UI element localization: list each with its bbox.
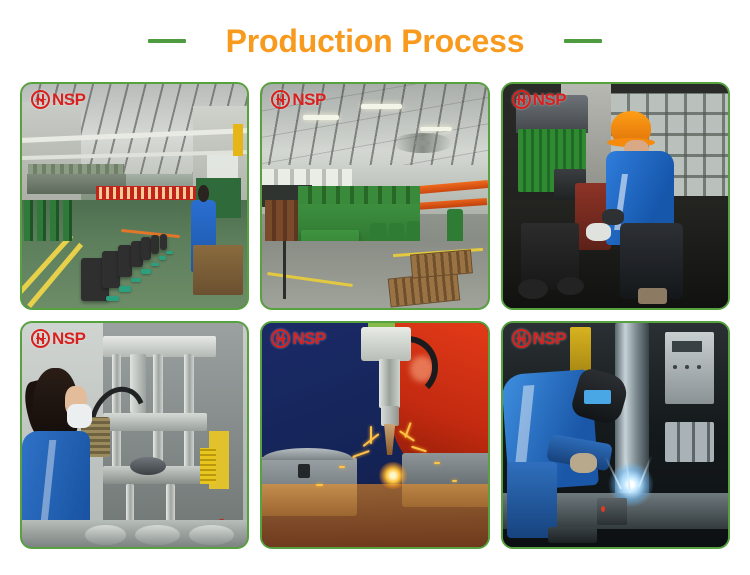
panel-display <box>672 341 702 352</box>
spark <box>452 480 458 482</box>
panel-knob <box>697 365 701 369</box>
gallery-item-2[interactable]: NSP <box>260 82 489 310</box>
pump-line <box>81 207 198 301</box>
red-banner <box>96 186 204 201</box>
metal-ring <box>85 525 126 545</box>
photo-workshop-crane <box>262 84 487 308</box>
spark <box>370 426 372 444</box>
pump-flange <box>518 279 547 299</box>
photo-pump-assembly-worker <box>503 84 728 308</box>
yellow-spring <box>200 448 216 484</box>
work-glove <box>586 223 611 241</box>
page-title: Production Process <box>226 23 525 60</box>
ceiling-lamp <box>303 115 339 119</box>
spark-glow <box>262 484 487 547</box>
yellow-sign <box>233 124 243 155</box>
gallery-item-5[interactable]: NSP <box>260 321 489 549</box>
page-header: Production Process <box>0 0 750 82</box>
ceiling-lamp <box>361 104 402 108</box>
watermark-text: NSP <box>292 330 325 347</box>
spark <box>434 462 441 464</box>
watermark-text: NSP <box>292 91 325 108</box>
laser-nozzle-tip <box>384 424 395 455</box>
photo-welding <box>503 323 728 547</box>
laser-nozzle-mid <box>381 406 399 426</box>
spark <box>353 450 371 458</box>
nsp-logo-icon <box>512 329 531 348</box>
watermark: NSP <box>512 329 566 348</box>
nsp-logo-icon <box>271 329 290 348</box>
welding-glove <box>570 453 597 473</box>
green-pump-row <box>24 200 74 240</box>
watermark-text: NSP <box>52 91 85 108</box>
photo-gallery-grid: NSP <box>0 82 750 549</box>
gallery-item-3[interactable]: NSP <box>501 82 730 310</box>
laser-nozzle-upper <box>379 359 399 408</box>
panel-knob <box>685 365 689 369</box>
watermark: NSP <box>31 90 85 109</box>
watermark-text: NSP <box>52 330 85 347</box>
metal-ring <box>189 525 234 545</box>
ceiling-lamp <box>420 127 452 131</box>
nsp-logo-icon <box>31 90 50 109</box>
watermark: NSP <box>31 329 85 348</box>
photo-laser-cutting <box>262 323 487 547</box>
watermark: NSP <box>271 329 325 348</box>
nsp-logo-icon <box>31 329 50 348</box>
nsp-logo-icon <box>512 90 531 109</box>
machine-head <box>361 327 411 361</box>
work-shoe <box>638 288 667 304</box>
watermark: NSP <box>512 90 566 109</box>
hand-tool <box>548 527 598 543</box>
laser-flash <box>379 462 406 489</box>
production-process-page: Production Process <box>0 0 750 575</box>
nsp-logo-icon <box>271 90 290 109</box>
watermark-text: NSP <box>533 91 566 108</box>
spark <box>316 484 323 486</box>
gallery-item-6[interactable]: NSP <box>501 321 730 549</box>
gallery-item-4[interactable]: NSP <box>20 321 249 549</box>
fixture-block <box>298 464 309 477</box>
welder-controller <box>597 498 626 525</box>
gallery-item-1[interactable]: NSP <box>20 82 249 310</box>
panel-knob <box>673 365 677 369</box>
support-pole <box>283 241 286 299</box>
pump-flange <box>557 277 584 295</box>
watermark-text: NSP <box>533 330 566 347</box>
metal-parts <box>665 422 715 462</box>
dash-left-icon <box>148 39 186 43</box>
control-panel <box>665 332 715 404</box>
watermark: NSP <box>271 90 325 109</box>
dash-right-icon <box>564 39 602 43</box>
metal-ring <box>135 525 180 545</box>
face-mask <box>67 404 92 429</box>
photo-assembly-hall <box>22 84 247 308</box>
workbench <box>193 245 243 294</box>
photo-hydraulic-press-operator <box>22 323 247 547</box>
helmet-visor <box>584 390 611 403</box>
